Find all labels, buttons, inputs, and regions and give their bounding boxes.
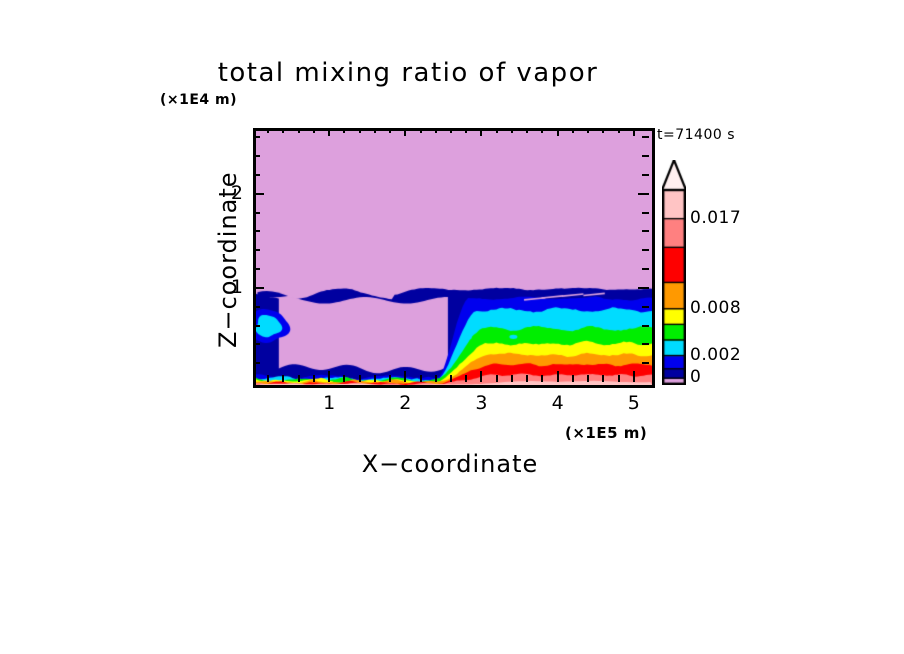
x-minor-tick — [465, 375, 467, 382]
x-minor-tick-top — [572, 128, 574, 133]
y-minor-tick — [253, 362, 260, 364]
y-tick-label: 2 — [221, 182, 243, 204]
x-minor-tick-top — [374, 128, 376, 133]
x-major-tick-top — [328, 128, 330, 136]
x-minor-tick — [282, 375, 284, 382]
x-minor-tick — [511, 375, 513, 382]
x-minor-tick-top — [435, 128, 437, 133]
colorbar-tick-label: 0.002 — [690, 345, 741, 365]
x-minor-tick-top — [465, 128, 467, 133]
x-minor-tick-top — [450, 128, 452, 133]
contour-field-canvas — [256, 131, 652, 385]
x-minor-tick — [389, 375, 391, 382]
x-major-tick — [480, 371, 482, 382]
y-axis-units-label: (×1E4 m) — [160, 92, 237, 108]
colorbar — [662, 160, 686, 389]
y-minor-tick-right — [642, 155, 649, 157]
x-minor-tick — [618, 375, 620, 382]
x-minor-tick-top — [618, 128, 620, 133]
x-minor-tick — [267, 375, 269, 382]
x-tick-label: 3 — [466, 392, 496, 414]
x-minor-tick-top — [313, 128, 315, 133]
x-axis-units-label: (×1E5 m) — [565, 424, 647, 442]
x-minor-tick — [450, 375, 452, 382]
x-minor-tick — [541, 375, 543, 382]
colorbar-swatches — [662, 160, 686, 385]
x-minor-tick-top — [633, 128, 635, 133]
x-minor-tick-top — [267, 128, 269, 133]
colorbar-tick-label: 0.017 — [690, 208, 741, 228]
x-minor-tick-top — [511, 128, 513, 133]
x-minor-tick — [298, 375, 300, 382]
x-minor-tick-top — [282, 128, 284, 133]
y-minor-tick-right — [642, 306, 649, 308]
x-minor-tick-top — [587, 128, 589, 133]
y-minor-tick — [253, 174, 260, 176]
y-minor-tick — [253, 155, 260, 157]
y-minor-tick-right — [642, 136, 649, 138]
x-minor-tick — [587, 375, 589, 382]
colorbar-tick-label: 0 — [690, 367, 701, 387]
timestamp-annotation: t=71400 s — [657, 127, 735, 143]
y-minor-tick — [253, 193, 260, 195]
x-minor-tick — [496, 375, 498, 382]
y-minor-tick-right — [642, 362, 649, 364]
plot-area — [253, 128, 655, 388]
y-minor-tick — [253, 212, 260, 214]
x-major-tick-top — [404, 128, 406, 136]
y-minor-tick-right — [642, 174, 649, 176]
x-minor-tick-top — [343, 128, 345, 133]
x-minor-tick-top — [389, 128, 391, 133]
x-minor-tick-top — [496, 128, 498, 133]
y-minor-tick — [253, 249, 260, 251]
page-title: total mixing ratio of vapor — [0, 58, 860, 88]
y-minor-tick-right — [642, 325, 649, 327]
x-tick-label: 5 — [619, 392, 649, 414]
x-minor-tick — [359, 375, 361, 382]
y-minor-tick-right — [642, 268, 649, 270]
x-major-tick-top — [557, 128, 559, 136]
y-tick-label: 1 — [221, 276, 243, 298]
x-minor-tick-top — [602, 128, 604, 133]
x-minor-tick-top — [526, 128, 528, 133]
y-minor-tick — [253, 136, 260, 138]
y-minor-tick-right — [642, 212, 649, 214]
x-tick-label: 1 — [314, 392, 344, 414]
y-minor-tick-right — [642, 249, 649, 251]
y-minor-tick — [253, 306, 260, 308]
x-axis-title: X−coordinate — [0, 450, 902, 478]
y-major-tick-right — [638, 287, 649, 289]
x-minor-tick — [435, 375, 437, 382]
y-minor-tick — [253, 325, 260, 327]
y-minor-tick — [253, 343, 260, 345]
y-minor-tick-right — [642, 230, 649, 232]
x-minor-tick-top — [298, 128, 300, 133]
y-minor-tick — [253, 268, 260, 270]
y-minor-tick — [253, 230, 260, 232]
x-minor-tick — [313, 375, 315, 382]
y-minor-tick-right — [642, 193, 649, 195]
x-minor-tick — [633, 375, 635, 382]
x-major-tick — [328, 371, 330, 382]
x-minor-tick-top — [359, 128, 361, 133]
x-minor-tick — [343, 375, 345, 382]
x-minor-tick-top — [420, 128, 422, 133]
x-major-tick — [404, 371, 406, 382]
x-minor-tick — [374, 375, 376, 382]
x-major-tick-top — [480, 128, 482, 136]
colorbar-tick-label: 0.008 — [690, 298, 741, 318]
x-minor-tick — [572, 375, 574, 382]
x-minor-tick — [526, 375, 528, 382]
x-minor-tick — [602, 375, 604, 382]
y-minor-tick-right — [642, 343, 649, 345]
x-minor-tick-top — [541, 128, 543, 133]
x-tick-label: 2 — [390, 392, 420, 414]
x-minor-tick — [420, 375, 422, 382]
x-major-tick — [557, 371, 559, 382]
x-tick-label: 4 — [543, 392, 573, 414]
y-major-tick — [253, 287, 264, 289]
